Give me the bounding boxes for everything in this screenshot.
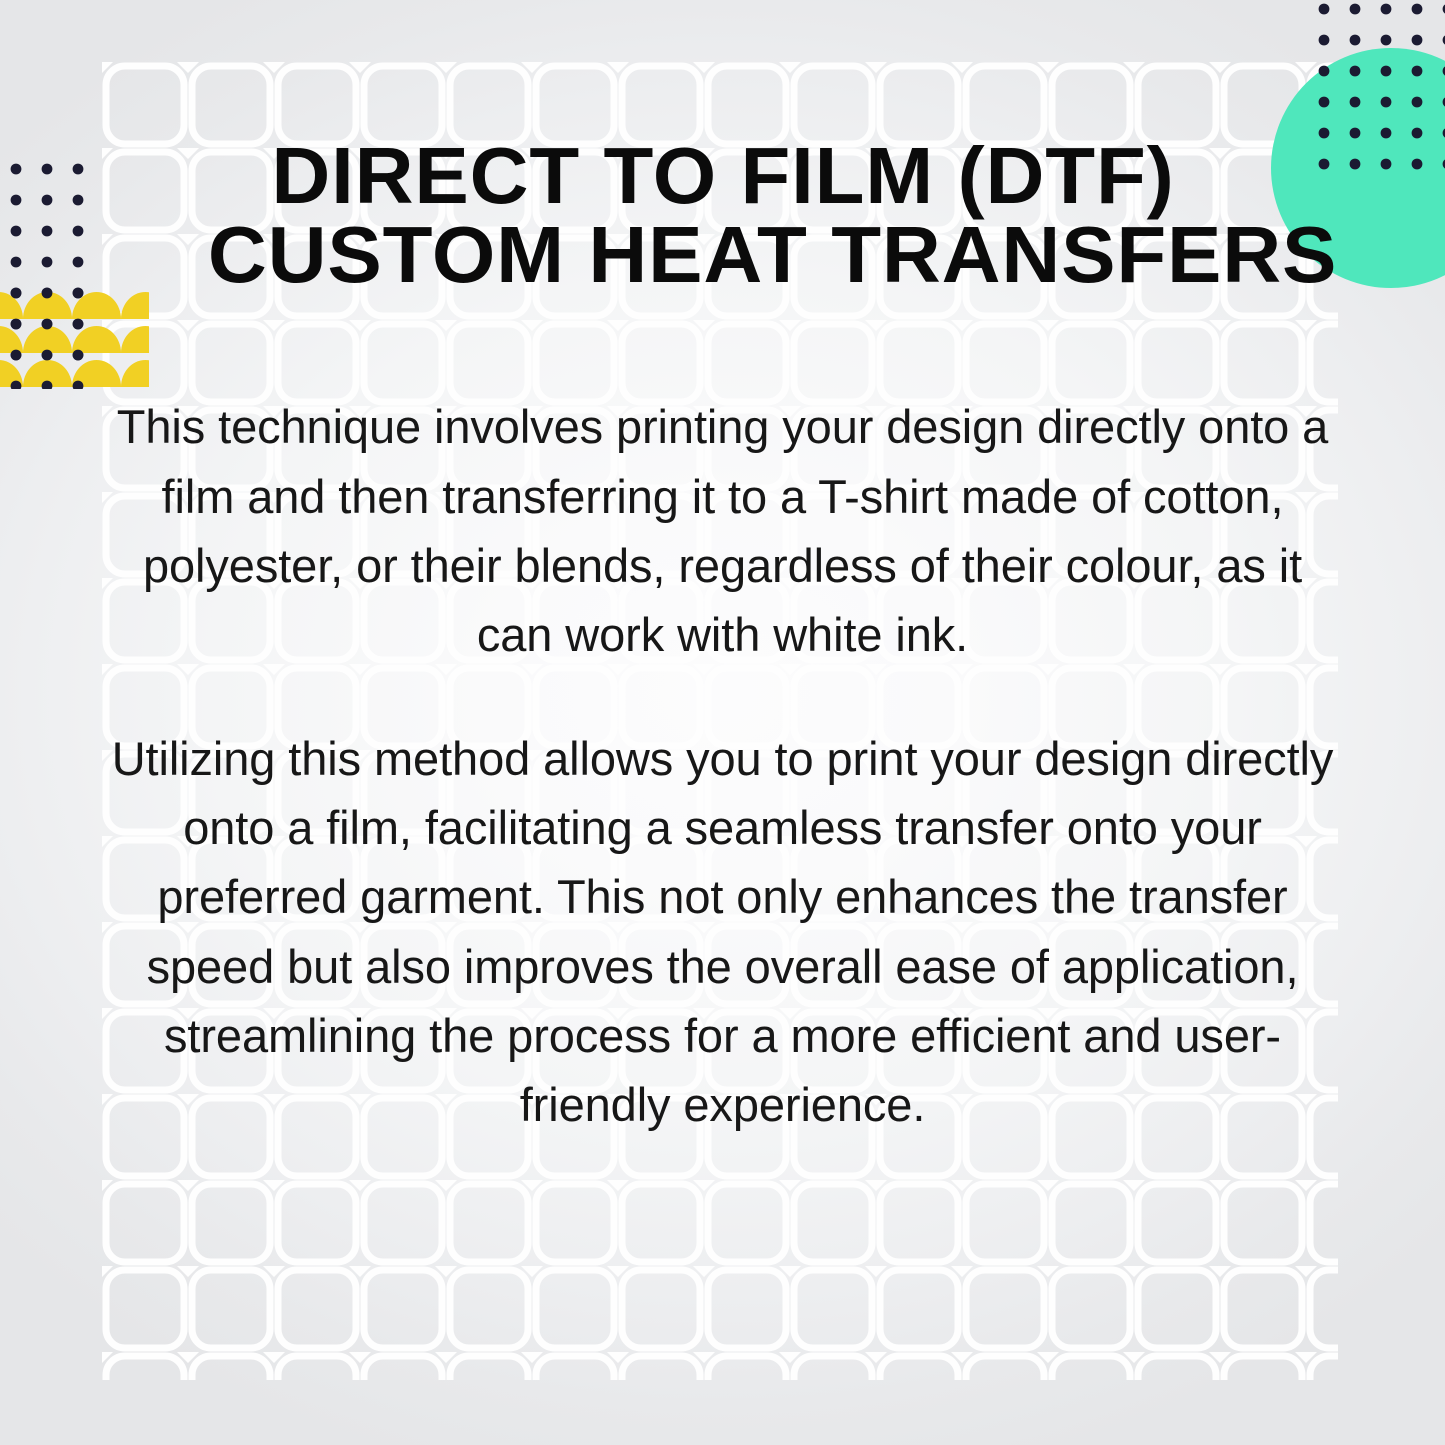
poster-content: DIRECT TO FILM (DTF) CUSTOM HEAT TRANSFE… [0,0,1445,1445]
paragraph-2: Utilizing this method allows you to prin… [90,724,1355,1140]
page-title: DIRECT TO FILM (DTF) CUSTOM HEAT TRANSFE… [207,0,1237,294]
title-line-1: DIRECT TO FILM (DTF) [207,136,1237,215]
title-line-2: CUSTOM HEAT TRANSFERS [207,215,1237,294]
paragraph-1: This technique involves printing your de… [100,392,1345,669]
body-copy: This technique involves printing your de… [100,392,1345,1139]
poster-canvas: DIRECT TO FILM (DTF) CUSTOM HEAT TRANSFE… [0,0,1445,1445]
